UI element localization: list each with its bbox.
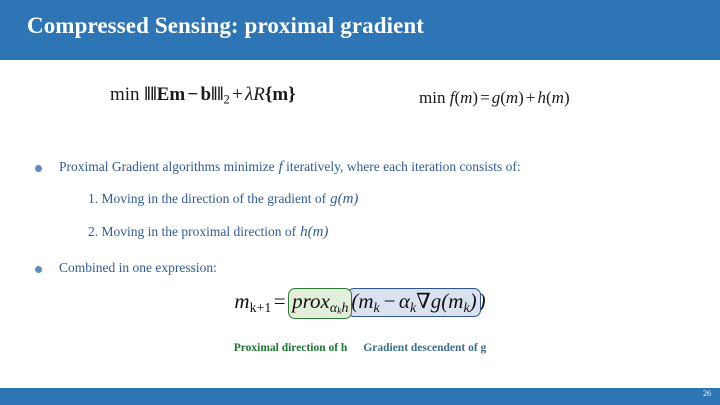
objective-brace-m: m	[272, 84, 288, 105]
equation-lhs-subscript: k+1	[250, 300, 272, 315]
equation-captions: Proximal direction of hGradient descende…	[0, 338, 720, 356]
numbered-item-1-math: g(m)	[326, 191, 358, 207]
splitting-min: min	[419, 88, 445, 107]
bullet-1-math-f: f	[275, 159, 283, 175]
slide-footer-band	[0, 388, 720, 405]
gradient-g: g	[431, 289, 442, 313]
prox-operator-box: proxαkh	[288, 288, 352, 319]
objective-minus: −	[185, 84, 200, 105]
bullet-1-text-after: iteratively, where each iteration consis…	[286, 159, 521, 174]
bullet-text: Proximal Gradient algorithms minimizef i…	[59, 158, 521, 176]
caption-gradient-descent: Gradient descendent of g	[363, 342, 486, 354]
gradient-m-k-subscript: k	[374, 300, 380, 315]
numbered-item-2-math: h(m)	[296, 224, 328, 240]
nabla-icon: ∇	[416, 289, 431, 313]
equation-equals: =	[271, 289, 288, 313]
equation-lhs-m: m	[234, 289, 249, 313]
splitting-h: h	[538, 88, 547, 107]
objective-min: min	[110, 84, 140, 105]
numbered-item-1: 1. Moving in the direction of the gradie…	[88, 191, 358, 208]
splitting-plus: +	[524, 88, 538, 107]
bullet-item-proximal-gradient: Proximal Gradient algorithms minimizef i…	[35, 158, 521, 176]
page-number: 26	[703, 389, 711, 398]
splitting-equals: =	[478, 88, 492, 107]
objective-plus: +	[230, 84, 245, 105]
numbered-item-1-label: 1. Moving in the direction of the gradie…	[88, 191, 326, 206]
slide-body: min ‖‖Em−b‖‖2+λR{m} min f(m)=g(m)+h(m) P…	[0, 60, 720, 388]
numbered-item-2: 2. Moving in the proximal direction ofh(…	[88, 224, 328, 241]
bullet-dot-icon	[35, 266, 42, 273]
gradient-m-k: m	[358, 289, 373, 313]
bullet-text: Combined in one expression:	[59, 259, 217, 277]
objective-data-b: b	[201, 84, 212, 105]
objective-lambda: λ	[245, 84, 253, 105]
objective-operator-E: E	[157, 84, 170, 105]
objective-model-m: m	[169, 84, 185, 105]
splitting-g-arg: m	[506, 88, 518, 107]
splitting-g: g	[492, 88, 501, 107]
splitting-f-arg: m	[460, 88, 472, 107]
objective-regularizer-R: R	[253, 84, 265, 105]
bullet-1-text-before: Proximal Gradient algorithms minimize	[59, 159, 275, 174]
formula-row: min ‖‖Em−b‖‖2+λR{m} min f(m)=g(m)+h(m)	[0, 84, 720, 120]
bullet-item-combined: Combined in one expression:	[35, 259, 217, 277]
objective-brace-close: }	[288, 84, 296, 105]
gradient-alpha: α	[399, 289, 410, 313]
bullet-dot-icon	[35, 165, 42, 172]
caption-proximal-direction: Proximal direction of h	[234, 342, 348, 354]
numbered-item-2-label: 2. Moving in the proximal direction of	[88, 224, 296, 239]
gradient-inner-close: )	[470, 289, 477, 313]
splitting-h-arg: m	[552, 88, 564, 107]
gradient-inner-m: m	[448, 289, 463, 313]
page-title: Compressed Sensing: proximal gradient	[27, 13, 424, 39]
prox-label: prox	[292, 289, 330, 313]
splitting-g-close: )	[518, 88, 524, 107]
objective-norm-subscript: 2	[223, 93, 229, 107]
prox-subscript-h: h	[341, 300, 348, 315]
proximal-gradient-equation: mk+1=proxαkh(mk−αk∇g(mk))	[0, 288, 720, 319]
splitting-formula: min f(m)=g(m)+h(m)	[419, 88, 570, 108]
objective-formula: min ‖‖Em−b‖‖2+λR{m}	[110, 84, 296, 108]
gradient-step-box: (mk−αk∇g(mk)	[347, 288, 480, 317]
splitting-h-close: )	[564, 88, 570, 107]
gradient-minus: −	[380, 289, 399, 313]
